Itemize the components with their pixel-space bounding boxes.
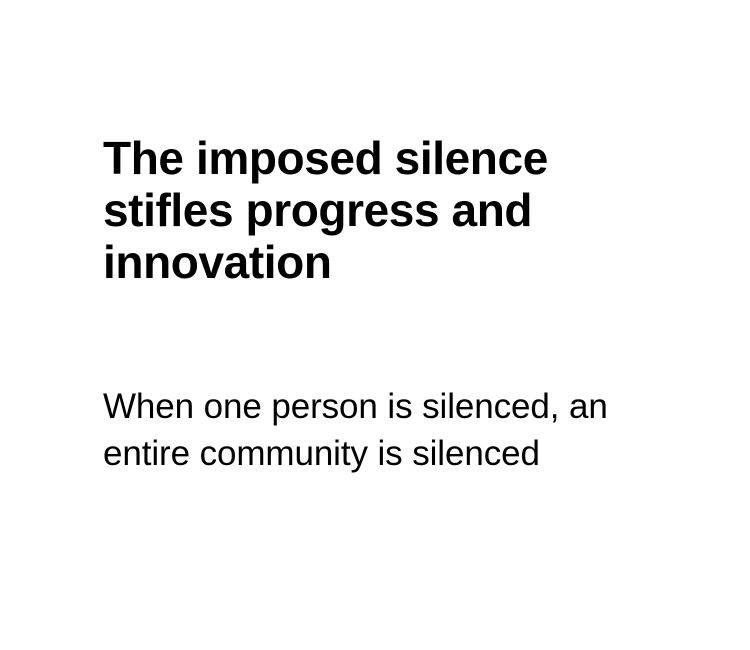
- slide-canvas: The imposed silence stifles progress and…: [0, 0, 750, 650]
- slide-body-text: When one person is silenced, an entire c…: [103, 383, 633, 477]
- slide-title: The imposed silence stifles progress and…: [103, 132, 663, 288]
